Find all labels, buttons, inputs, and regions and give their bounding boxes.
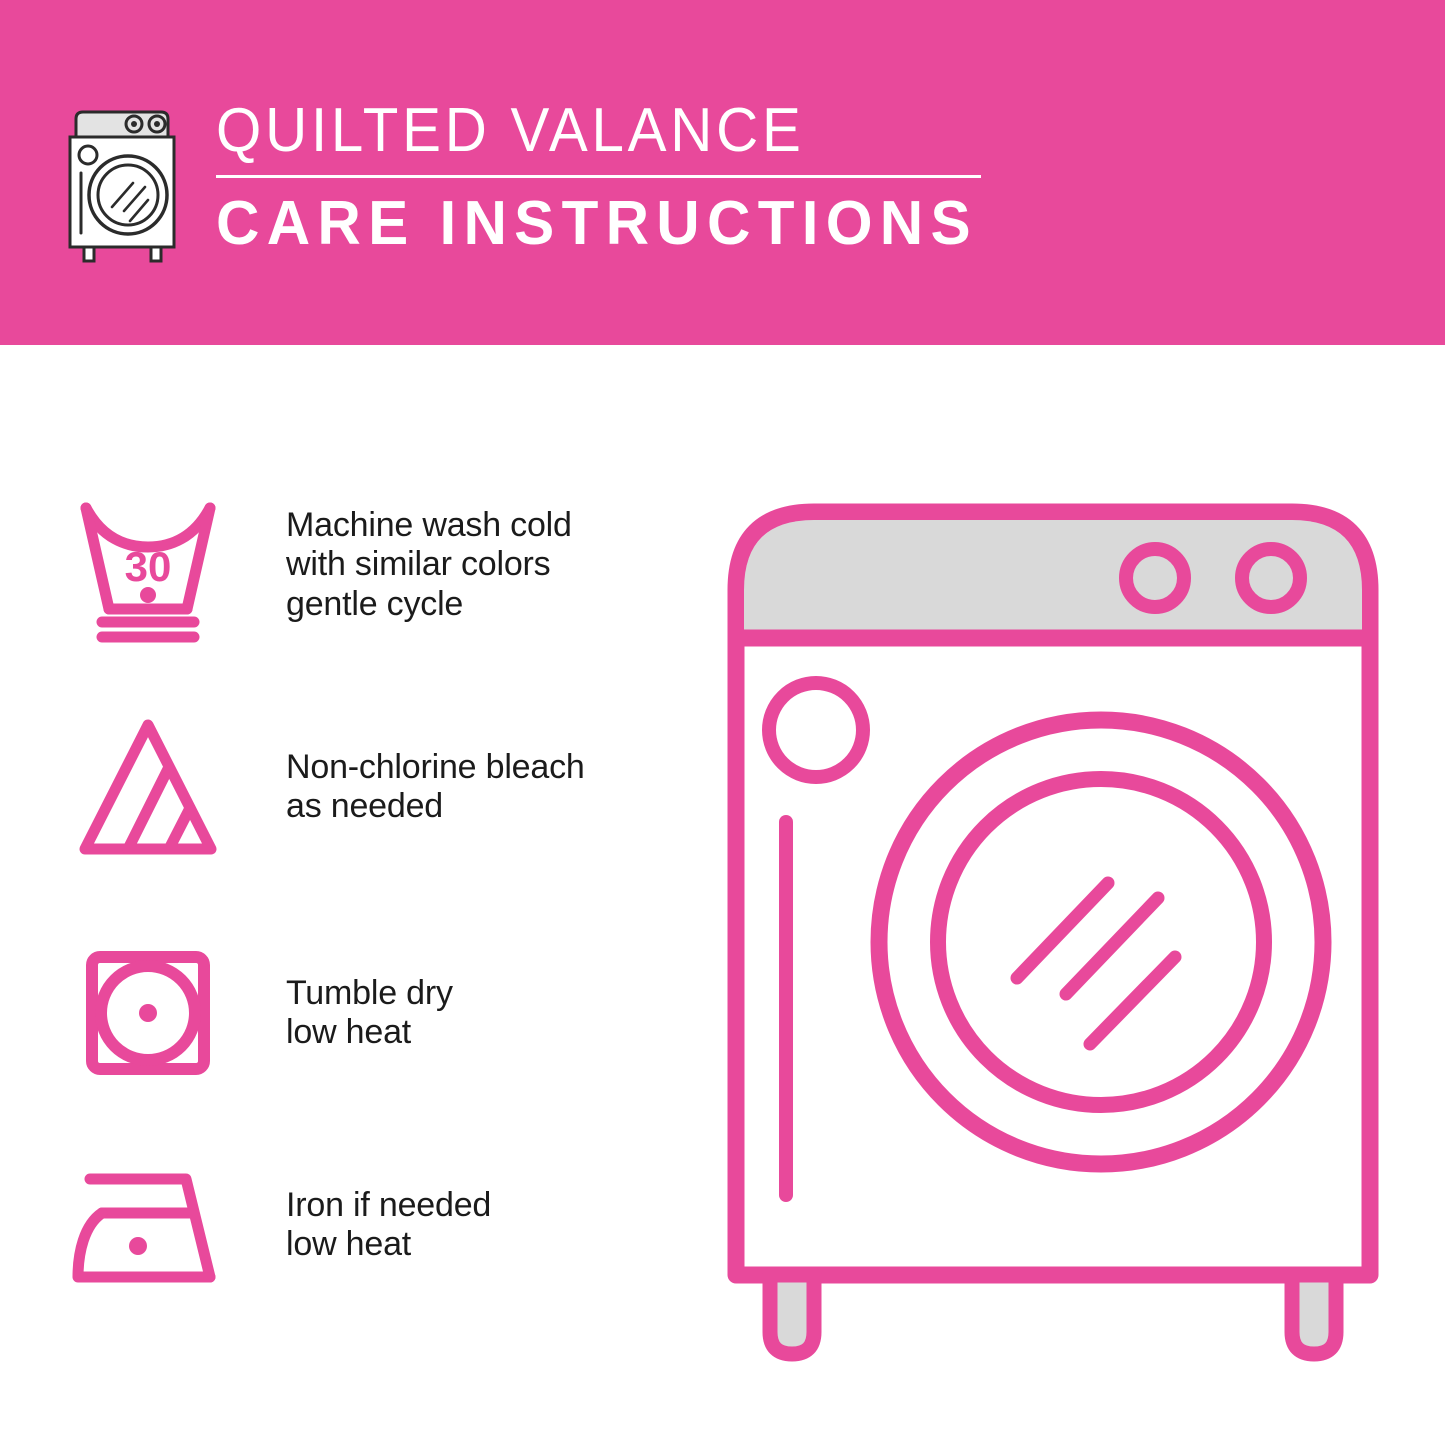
header-divider [216, 175, 981, 178]
care-instruction-row: Tumble dry low heat [68, 933, 628, 1093]
care-instruction-row: Iron if needed low heat [68, 1145, 628, 1305]
care-instruction-row: Non-chlorine bleach as needed [68, 707, 628, 867]
header-content: QUILTED VALANCE CARE INSTRUCTIONS [62, 95, 1001, 263]
care-text-line: gentle cycle [286, 585, 572, 624]
iron-low-heat-icon [68, 1145, 228, 1305]
care-text-line: Non-chlorine bleach [286, 748, 585, 787]
care-instruction-row: 30 Machine wash cold with similar colors… [68, 485, 628, 645]
care-instruction-text: Non-chlorine bleach as needed [286, 748, 585, 827]
non-chlorine-bleach-triangle-icon [68, 707, 228, 867]
tumble-dry-low-heat-icon [68, 933, 228, 1093]
care-text-line: Machine wash cold [286, 506, 572, 545]
care-instruction-text: Tumble dry low heat [286, 974, 453, 1053]
leg-right [1292, 1275, 1336, 1354]
care-instruction-list: 30 Machine wash cold with similar colors… [0, 345, 660, 1445]
care-instruction-text: Iron if needed low heat [286, 1186, 491, 1265]
page-title: QUILTED VALANCE [216, 99, 954, 162]
care-text-line: low heat [286, 1013, 453, 1052]
leg-left [770, 1275, 814, 1354]
care-text-line: Iron if needed [286, 1186, 491, 1225]
header-banner: QUILTED VALANCE CARE INSTRUCTIONS [0, 0, 1445, 345]
care-text-line: with similar colors [286, 545, 572, 584]
care-instruction-text: Machine wash cold with similar colors ge… [286, 506, 572, 624]
front-load-washing-machine-illustration [718, 470, 1388, 1380]
control-panel [744, 520, 1362, 638]
care-text-line: as needed [286, 787, 585, 826]
care-text-line: low heat [286, 1225, 491, 1264]
wash-tub-30-gentle-icon: 30 [68, 485, 228, 645]
washing-machine-icon [62, 103, 188, 263]
header-title-group: QUILTED VALANCE CARE INSTRUCTIONS [216, 95, 1001, 256]
page-subtitle: CARE INSTRUCTIONS [216, 191, 978, 256]
svg-text:30: 30 [125, 543, 172, 590]
care-text-line: Tumble dry [286, 974, 453, 1013]
